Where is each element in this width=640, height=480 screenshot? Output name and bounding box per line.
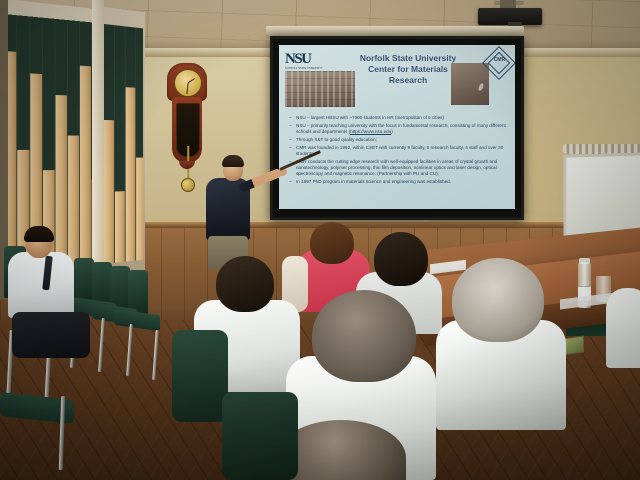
blind-slat-pattern: [17, 15, 29, 150]
slide-link[interactable]: https://www.nsu.edu: [350, 129, 391, 134]
bullet-dash-icon: –: [289, 145, 296, 157]
blind-slat-pattern: [80, 21, 91, 66]
presenter-hair: [222, 155, 244, 167]
attendee-dark-hair-head: [374, 232, 428, 286]
blind-slat: [56, 19, 67, 271]
attendee-trousers: [12, 312, 90, 358]
nsu-logo-subtext: NORFOLK STATE UNIVERSITY: [285, 67, 331, 70]
audience-chair-back[interactable]: [258, 300, 298, 372]
attendee-far-right-shoulder: [606, 288, 640, 368]
clock-finial: [179, 161, 195, 169]
slide-bullet: –NSU – largest HBSU with ~7000 students …: [289, 115, 509, 121]
blind-slat-pattern: [115, 25, 125, 191]
attendee-red-top-head: [310, 222, 354, 264]
slide-bullet: –CMR conducts the cutting edge research …: [289, 159, 509, 178]
conference-room-photo: NSU NORFOLK STATE UNIVERSITY Norfolk Sta…: [0, 0, 640, 480]
clock-glass-door: [176, 103, 200, 157]
blind-slat: [136, 28, 143, 261]
bullet-dash-icon: –: [289, 179, 296, 185]
blind-slat-pattern: [30, 17, 42, 74]
slide-bullet-text: NSU – largest HBSU with ~7000 students i…: [296, 115, 509, 121]
slide-bullet-list: –NSU – largest HBSU with ~7000 students …: [289, 115, 509, 187]
blind-slat-pattern: [136, 28, 143, 158]
attendee-shirt: [8, 252, 74, 318]
slide-bullet-text: In 1997 PhD program in materials science…: [296, 179, 509, 185]
slide-bullet: –In 1997 PhD program in materials scienc…: [289, 179, 509, 185]
slide-bullet: –Through S&T to good quality education;: [289, 137, 509, 143]
pendulum-bob: [181, 178, 195, 192]
blind-slat: [68, 20, 79, 270]
wall-clock: [167, 63, 207, 175]
presentation-slide: NSU NORFOLK STATE UNIVERSITY Norfolk Sta…: [279, 45, 515, 209]
attendee-grey-right-head: [452, 258, 544, 342]
blind-slat: [115, 25, 125, 263]
attendee-grey-center-head: [312, 290, 416, 382]
window-mullion: [92, 0, 104, 298]
slide-bullet-text: NSU – primarily teaching university with…: [296, 123, 509, 135]
blind-slat-pattern: [68, 20, 79, 135]
clock-hour-hand: [188, 78, 196, 83]
slide-bullet: –CMR was founded in 1992, within CSET wi…: [289, 145, 509, 157]
projection-screen: NSU NORFOLK STATE UNIVERSITY Norfolk Sta…: [270, 36, 524, 220]
blind-slat: [80, 21, 91, 269]
audience-chair-back-front[interactable]: [222, 392, 298, 480]
blind-slat: [126, 26, 136, 261]
clock-hood: [167, 63, 207, 101]
slide-bullet-text: Through S&T to good quality education;: [296, 137, 509, 143]
audience-chair-back[interactable]: [172, 330, 228, 422]
blind-slat-pattern: [56, 19, 67, 95]
slide-bullet: –NSU – primarily teaching university wit…: [289, 123, 509, 135]
slide-bullet-text: CMR was founded in 1992, within CSET wit…: [296, 145, 509, 157]
clock-minute-hand: [186, 83, 188, 94]
blind-slat: [104, 24, 114, 264]
vertical-blinds-right[interactable]: [104, 24, 143, 264]
attendee-hair: [24, 226, 54, 242]
bullet-dash-icon: –: [289, 137, 296, 143]
blind-slat-pattern: [104, 24, 114, 120]
slide-bullet-text: CMR conducts the cutting edge research w…: [296, 159, 509, 178]
cmr-logo-text: CMR: [491, 57, 508, 63]
clock-face: [174, 69, 202, 97]
blind-slat-pattern: [43, 18, 55, 171]
bullet-dash-icon: –: [289, 115, 296, 121]
bullet-dash-icon: –: [289, 123, 296, 135]
blind-slat-pattern: [126, 26, 136, 88]
